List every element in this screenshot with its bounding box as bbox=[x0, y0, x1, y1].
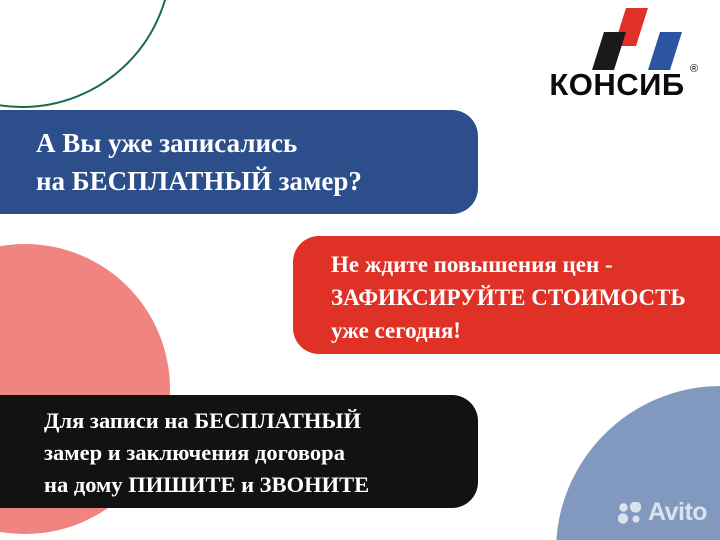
advertisement-canvas: КОНСИБ ® А Вы уже записались на БЕСПЛАТН… bbox=[0, 0, 720, 540]
banner-price-lock-offer: Не ждите повышения цен - ЗАФИКСИРУЙТЕ СТ… bbox=[293, 236, 720, 354]
banner-red-line-2: ЗАФИКСИРУЙТЕ СТОИМОСТЬ bbox=[331, 281, 720, 314]
banner-contact-instructions: Для записи на БЕСПЛАТНЫЙ замер и заключе… bbox=[0, 395, 478, 508]
banner-blue-line-2: на БЕСПЛАТНЫЙ замер? bbox=[36, 162, 478, 200]
banner-blue-line-1: А Вы уже записались bbox=[36, 124, 478, 162]
avito-dots-icon bbox=[618, 502, 644, 524]
konsib-logo-mark-icon bbox=[592, 8, 688, 70]
banner-black-line-1: Для записи на БЕСПЛАТНЫЙ bbox=[44, 405, 478, 437]
logo-wordmark: КОНСИБ bbox=[524, 68, 710, 102]
avito-watermark: Avito bbox=[618, 500, 707, 525]
banner-free-measurement-question: А Вы уже записались на БЕСПЛАТНЫЙ замер? bbox=[0, 110, 478, 214]
company-logo: КОНСИБ ® bbox=[524, 8, 710, 104]
registered-trademark-symbol: ® bbox=[690, 63, 698, 75]
banner-black-line-3: на дому ПИШИТЕ и ЗВОНИТЕ bbox=[44, 469, 478, 501]
green-ring-decoration bbox=[0, 0, 172, 108]
avito-wordmark: Avito bbox=[648, 500, 707, 525]
banner-red-line-3: уже сегодня! bbox=[331, 314, 720, 347]
banner-red-line-1: Не ждите повышения цен - bbox=[331, 248, 720, 281]
banner-black-line-2: замер и заключения договора bbox=[44, 437, 478, 469]
